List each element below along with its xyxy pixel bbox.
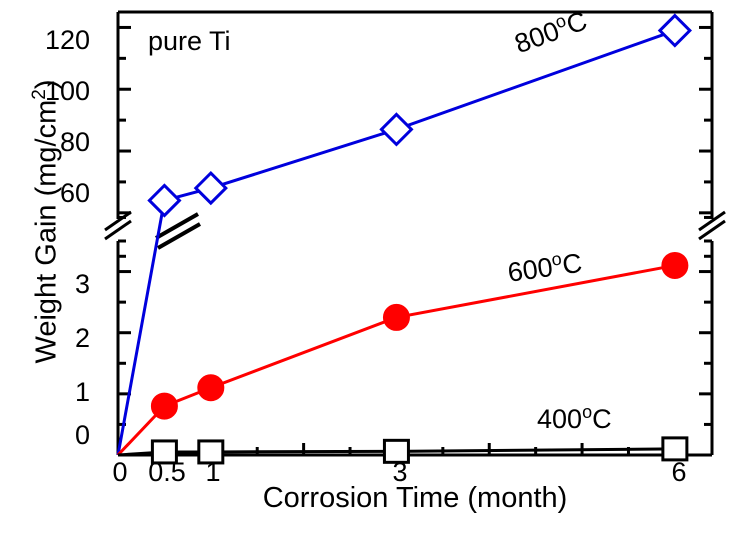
data-point-marker [196,173,226,203]
axis-break-marks [105,212,725,248]
chart-figure: Weight Gain (mg/cm2) Corrosion Time (mon… [0,0,735,535]
data-point-marker [198,375,223,400]
data-point-marker [384,440,408,462]
axis-break-slash [699,221,725,239]
data-point-marker [152,441,176,463]
axis-break-slash [105,221,131,239]
plot-area [0,0,735,535]
data-point-marker [199,441,223,463]
series-break-slash [158,224,200,248]
data-point-marker [663,438,687,460]
data-point-marker [149,185,179,215]
data-point-marker [381,114,411,144]
data-point-marker [384,305,409,330]
data-series-group [118,16,690,463]
series-line-600oc [118,265,675,455]
data-point-marker [662,253,687,278]
data-point-marker [152,394,177,419]
data-point-marker [660,16,690,46]
